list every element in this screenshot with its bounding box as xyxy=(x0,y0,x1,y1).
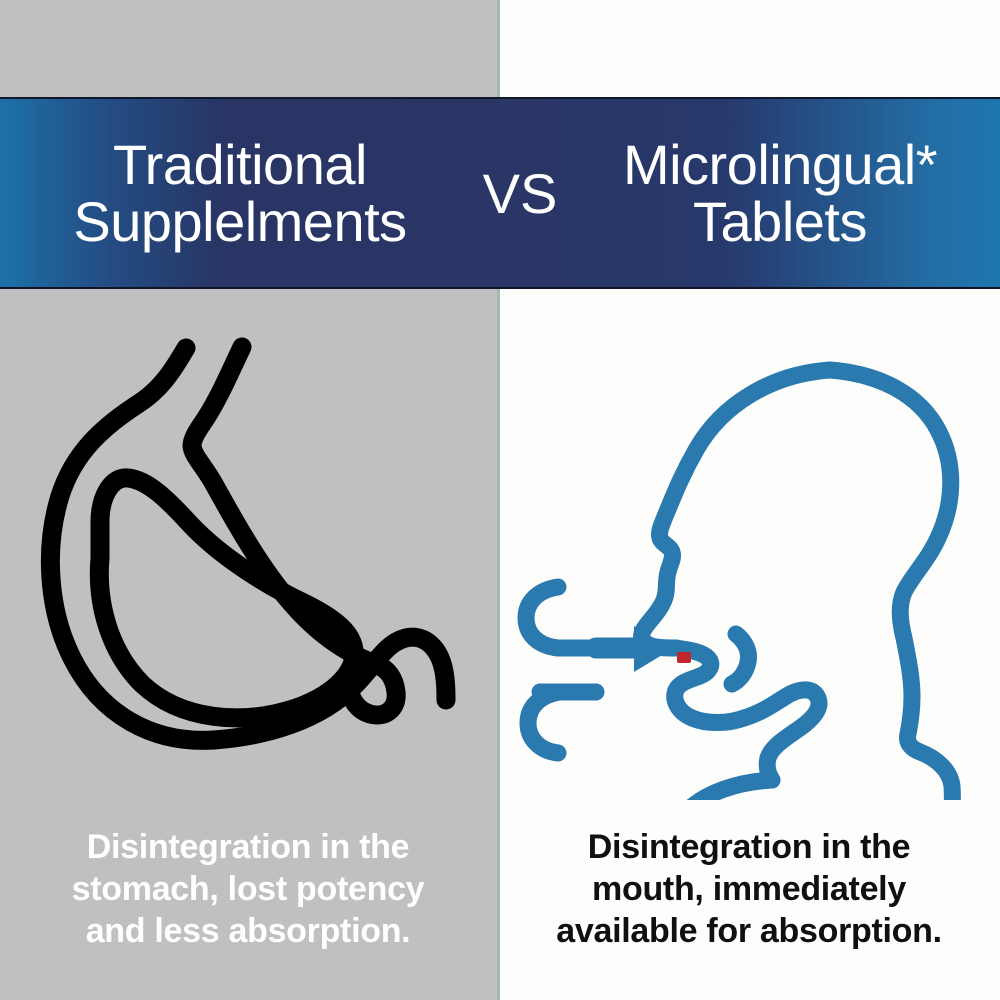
left-caption-line1: Disintegration in the xyxy=(13,826,483,868)
stomach-icon xyxy=(0,300,497,800)
header-right-title-line1: Microlingual* xyxy=(580,136,980,193)
right-caption-line2: mouth, immediately xyxy=(514,868,984,910)
airflow-arrow-icon xyxy=(526,587,630,753)
arrow-head xyxy=(634,626,672,672)
head-profile-icon xyxy=(500,300,1000,800)
red-tablet-icon xyxy=(677,652,691,663)
header-left-title-line1: Traditional xyxy=(20,136,460,193)
left-caption-line3: and less absorption. xyxy=(13,910,483,952)
header-right-title: Microlingual* Tablets xyxy=(580,136,980,250)
left-caption: Disintegration in the stomach, lost pote… xyxy=(13,826,483,952)
header-left-title: Traditional Supplelments xyxy=(20,136,460,250)
versus-label: VS xyxy=(460,161,580,226)
header-banner: Traditional Supplelments VS Microlingual… xyxy=(0,97,1000,289)
right-caption-line3: available for absorption. xyxy=(514,910,984,952)
head-illustration-area xyxy=(500,300,1000,800)
header-left-title-line2: Supplelments xyxy=(20,193,460,250)
left-caption-line2: stomach, lost potency xyxy=(13,868,483,910)
right-caption-line1: Disintegration in the xyxy=(514,826,984,868)
comparison-infographic: Traditional Supplelments VS Microlingual… xyxy=(0,0,1000,1000)
right-caption: Disintegration in the mouth, immediately… xyxy=(514,826,984,952)
header-right-title-line2: Tablets xyxy=(580,193,980,250)
stomach-illustration-area xyxy=(0,300,497,800)
